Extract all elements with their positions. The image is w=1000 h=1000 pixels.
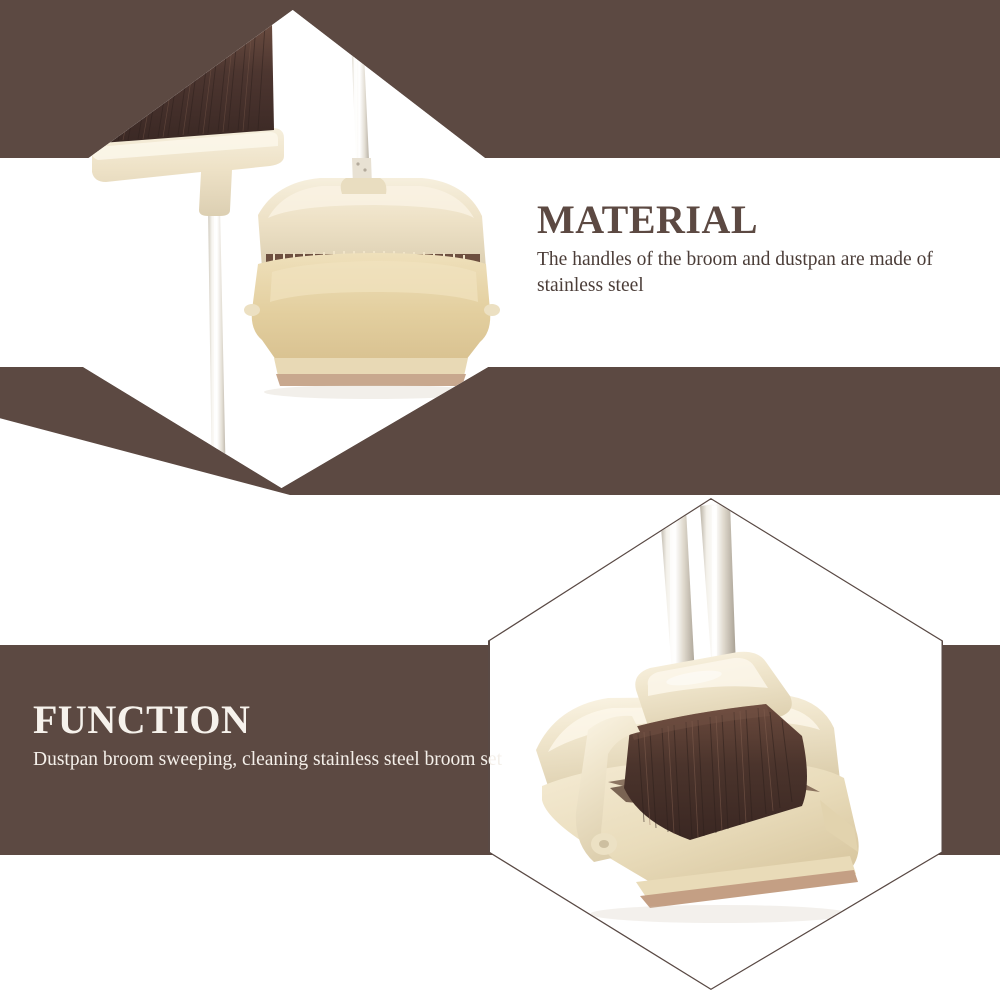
material-body-text: The handles of the broom and dustpan are… — [537, 247, 977, 298]
function-heading: FUNCTION — [33, 700, 503, 741]
function-body-text: Dustpan broom sweeping, cleaning stainle… — [33, 747, 503, 773]
product-photo-bottom — [490, 500, 942, 989]
material-text-block: MATERIAL The handles of the broom and du… — [537, 200, 977, 298]
function-text-block: FUNCTION Dustpan broom sweeping, cleanin… — [33, 700, 503, 773]
product-photo-hexagon-bottom — [488, 498, 943, 990]
material-heading: MATERIAL — [537, 200, 977, 241]
infographic-canvas: MATERIAL The handles of the broom and du… — [0, 0, 1000, 1000]
broom-and-dustpan-illustration-bottom — [490, 500, 942, 989]
